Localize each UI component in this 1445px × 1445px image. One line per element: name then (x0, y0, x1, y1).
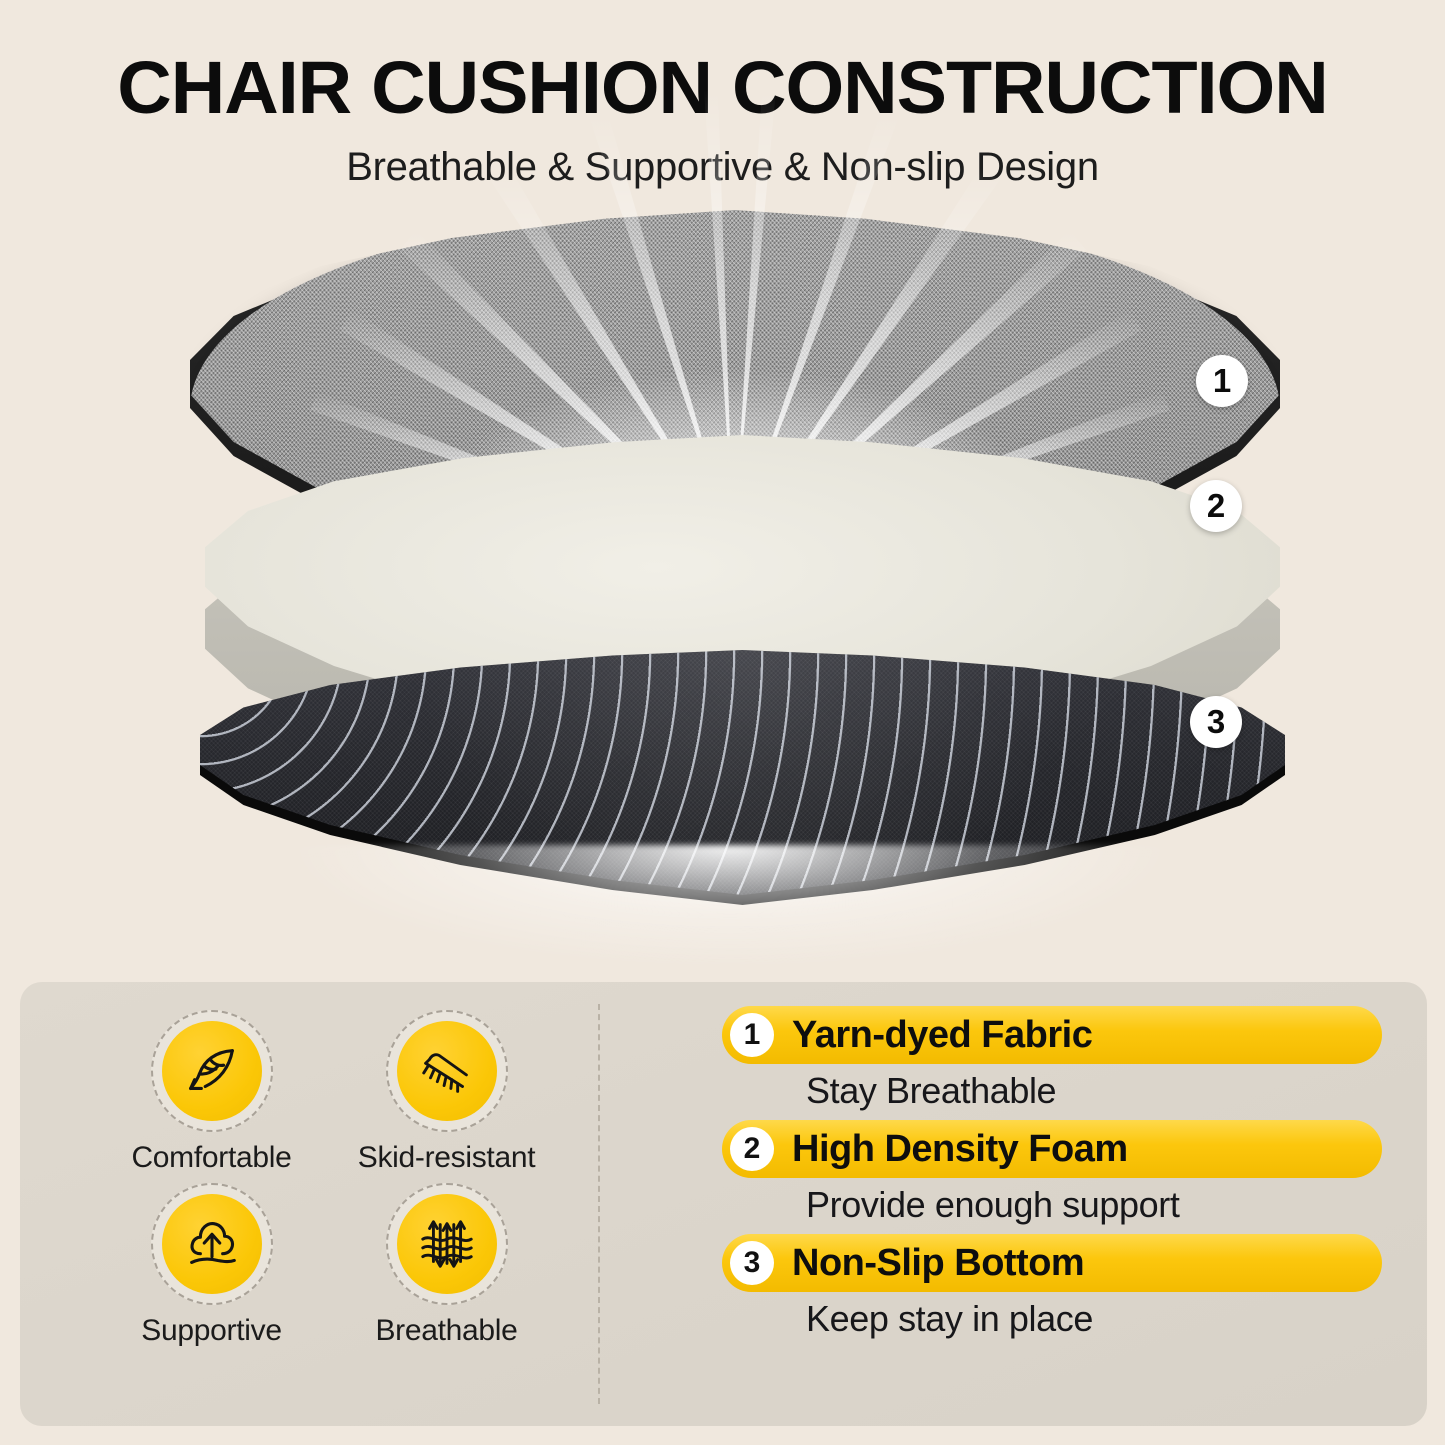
icon-ring-breathable (386, 1183, 508, 1305)
icon-disc-skid-resistant (397, 1021, 497, 1121)
icon-disc-comfortable (162, 1021, 262, 1121)
feature-skid-resistant[interactable]: Skid-resistant (329, 1010, 564, 1175)
feature-label-skid-resistant: Skid-resistant (358, 1141, 536, 1175)
feature-pill-2[interactable]: 2 High Density Foam (722, 1120, 1382, 1178)
numbered-feature-2[interactable]: 2 High Density Foam Provide enough suppo… (722, 1120, 1382, 1226)
feature-comfortable[interactable]: Comfortable (94, 1010, 329, 1175)
numbered-feature-1[interactable]: 1 Yarn-dyed Fabric Stay Breathable (722, 1006, 1382, 1112)
icon-disc-breathable (397, 1194, 497, 1294)
icon-disc-supportive (162, 1194, 262, 1294)
feature-desc-2: Provide enough support (806, 1184, 1382, 1226)
icon-ring-supportive (151, 1183, 273, 1305)
feather-icon (181, 1040, 243, 1102)
feature-desc-1: Stay Breathable (806, 1070, 1382, 1112)
airflow-arrows-icon (416, 1213, 478, 1275)
feature-label-breathable: Breathable (375, 1314, 517, 1348)
product-exploded-view: 1 2 3 (0, 190, 1445, 980)
feature-label-supportive: Supportive (141, 1314, 281, 1348)
feature-title-3: Non-Slip Bottom (792, 1242, 1084, 1285)
nonslip-grip-surface (200, 650, 1285, 900)
page-subtitle: Breathable & Supportive & Non-slip Desig… (0, 125, 1445, 190)
icon-grid: Comfortable (94, 1010, 564, 1348)
features-panel: Comfortable (20, 982, 1427, 1426)
numbered-feature-3[interactable]: 3 Non-Slip Bottom Keep stay in place (722, 1234, 1382, 1340)
feature-title-2: High Density Foam (792, 1128, 1128, 1171)
icon-ring-comfortable (151, 1010, 273, 1132)
numbered-feature-list: 1 Yarn-dyed Fabric Stay Breathable 2 Hig… (722, 1006, 1382, 1348)
feature-pill-1[interactable]: 1 Yarn-dyed Fabric (722, 1006, 1382, 1064)
grip-mat-icon (416, 1040, 478, 1102)
nonslip-bottom-layer (200, 650, 1285, 900)
feature-label-comfortable: Comfortable (131, 1141, 291, 1175)
icon-features-column: Comfortable (20, 982, 598, 1426)
feature-badge-3: 3 (730, 1241, 774, 1285)
feature-pill-3[interactable]: 3 Non-Slip Bottom (722, 1234, 1382, 1292)
numbered-features-column: 1 Yarn-dyed Fabric Stay Breathable 2 Hig… (600, 982, 1427, 1426)
page-title: CHAIR CUSHION CONSTRUCTION (0, 0, 1445, 125)
feature-desc-3: Keep stay in place (806, 1298, 1382, 1340)
hero-badge-3: 3 (1190, 696, 1242, 748)
feature-title-1: Yarn-dyed Fabric (792, 1014, 1092, 1057)
header: CHAIR CUSHION CONSTRUCTION Breathable & … (0, 0, 1445, 190)
feature-supportive[interactable]: Supportive (94, 1183, 329, 1348)
feature-badge-1: 1 (730, 1013, 774, 1057)
hero-badge-2: 2 (1190, 480, 1242, 532)
feature-badge-2: 2 (730, 1127, 774, 1171)
hero-badge-1: 1 (1196, 355, 1248, 407)
cloud-up-arrow-icon (181, 1213, 243, 1275)
feature-breathable[interactable]: Breathable (329, 1183, 564, 1348)
icon-ring-skid-resistant (386, 1010, 508, 1132)
